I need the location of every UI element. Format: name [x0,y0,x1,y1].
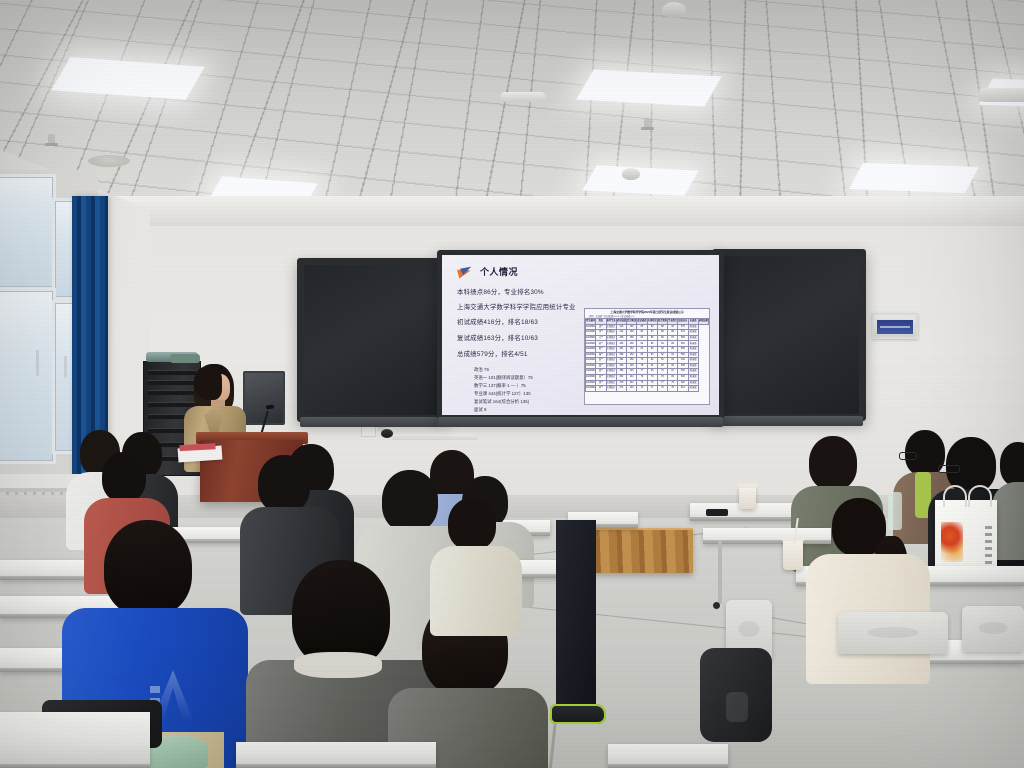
student-standing-legs [556,520,596,716]
smoke-detector-icon [622,168,640,180]
window-handle[interactable] [36,350,39,376]
slide-subitem: 英语一 101(翻译阅读题意）75 [474,375,533,381]
backpack-pocket [726,692,748,722]
table-body: 1024800001张**应用统计41616385898890579拟录取102… [586,324,709,391]
window-pane [0,174,56,290]
table-cell: 77 [647,386,657,392]
slide-line-1: 本科绩点86分，专业排名30% [457,287,544,296]
window-pane [0,288,56,464]
slide-line-3: 初试成绩416分，排名18/63 [457,317,538,326]
wall-soffit [110,196,1024,226]
wall-camera-icon [378,427,394,439]
slide-subitem: 专业课 444(统计学 127）130 [474,391,531,397]
cable-trunking [392,434,478,440]
glasses-icon [938,465,960,473]
ceiling-light-panel [582,165,698,196]
panel-face [877,320,913,334]
table-cell: 孙** [596,386,606,392]
desk [608,744,728,768]
display-left[interactable] [297,258,447,422]
presenter-hair-front [194,366,222,400]
wooden-bench-platform [588,528,693,573]
table-cell: 374 [616,386,626,392]
display-right-surface [719,256,859,414]
window-handle[interactable] [64,356,67,378]
desk [0,712,150,768]
desk [236,742,436,768]
table-cell: 78 [668,386,678,392]
ceiling-light-panel [849,163,979,193]
display-left-rail [300,417,444,427]
table-cell: 74 [637,386,647,392]
sneaker [550,704,606,724]
slide-title: 个人情况 [480,265,518,278]
classroom-photo: 个人情况 本科绩点86分，专业排名30% 上海交通大学数学科学学院应用统计专业 … [0,0,1024,768]
paper-plane-icon [458,265,475,278]
collar [294,652,382,678]
slide-subitem: 复试笔试 164(综合分析 135) [474,399,529,405]
slide-subitem: 数学三 137(概率 1 — ）75 [474,383,526,389]
slide-line-2: 上海交通大学数学科学学院应用统计专业 [457,302,576,311]
table-cell: 140 [627,386,637,392]
bag-text [985,526,992,566]
presentation-slide: 个人情况 本科绩点86分，专业排名30% 上海交通大学数学科学学院应用统计专业 … [442,255,719,415]
bag-artwork [941,522,963,562]
smartphone [706,509,728,516]
glasses-icon [899,452,917,460]
milk-tea-cup [783,540,803,570]
table-cell: 514 [678,386,688,392]
ceiling-speaker-icon [88,155,130,167]
results-table: 考生编号姓名报考专业初试成绩复试笔试面试成绩外语听说综合素质专业能力加权总分总成… [585,318,709,392]
slide-line-5: 总成绩579分，排名4/51 [457,349,528,358]
display-right-rail [715,416,863,426]
table-row: 1024800012孙**应用统计37414074777678514拟录取 [586,386,709,392]
display-right[interactable] [712,249,866,421]
air-duct [978,88,1024,102]
slide-header: 个人情况 [458,265,518,278]
table-cell: 拟录取 [688,386,698,392]
rack-top-object [170,354,200,363]
chair[interactable] [962,606,1024,652]
smoke-detector-icon [662,2,686,18]
air-duct [500,92,546,102]
slide-subitem: 面试 9 [474,407,486,413]
table-cell: 应用统计 [606,386,616,392]
table-cell: 76 [657,386,667,392]
water-bottle [888,492,902,530]
slide-results-table: 上海交通大学数学科学学院2024年硕士研究生复试成绩公示 说明：总成绩＝初试成绩… [584,308,710,405]
table-col-header: 录取结果 [698,319,708,325]
electrical-panel-box [872,313,918,339]
coffee-cup [739,487,756,509]
sprinkler-icon [644,118,651,129]
display-left-surface [304,265,440,415]
sprinkler-icon [48,134,55,145]
display-center-rail [438,417,723,427]
desk [703,528,831,544]
slide-line-4: 复试成绩163分，排名10/63 [457,333,538,342]
table-cell: 1024800012 [586,386,596,392]
camera-body [381,429,393,438]
display-center[interactable]: 个人情况 本科绩点86分，专业排名30% 上海交通大学数学科学学院应用统计专业 … [437,250,724,420]
slide-subitem: 政治 76 [474,367,489,373]
chair[interactable] [838,612,948,654]
